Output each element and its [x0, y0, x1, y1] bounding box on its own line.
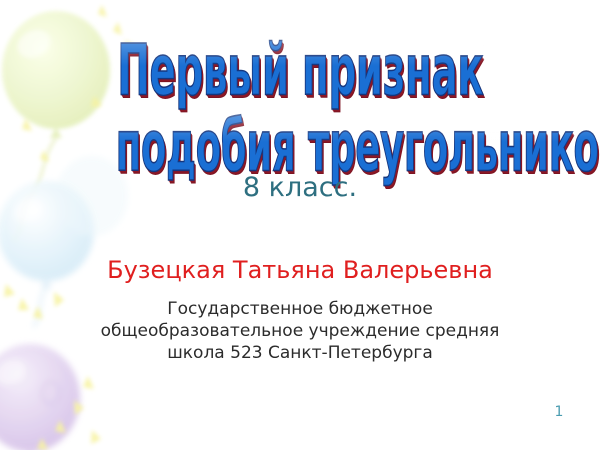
- organisation-line: школа 523 Санкт-Петербурга: [28, 342, 572, 364]
- page-number: 1: [548, 404, 570, 420]
- title-line-2: подобия треугольников: [0, 112, 600, 166]
- organisation-line: Государственное бюджетное: [28, 298, 572, 320]
- organisation-block: Государственное бюджетное общеобразовате…: [28, 298, 572, 364]
- author-name: Бузецкая Татьяна Валерьевна: [0, 256, 600, 284]
- subtitle-grade: 8 класс.: [0, 172, 600, 203]
- organisation-line: общеобразовательное учреждение средняя: [28, 320, 572, 342]
- presentation-slide: Первый признак подобия треугольников 8 к…: [0, 0, 600, 450]
- title-line-1: Первый признак: [0, 36, 600, 90]
- title-line-1-text: Первый признак: [117, 36, 483, 106]
- sparkle-cluster-bottom: [37, 376, 101, 450]
